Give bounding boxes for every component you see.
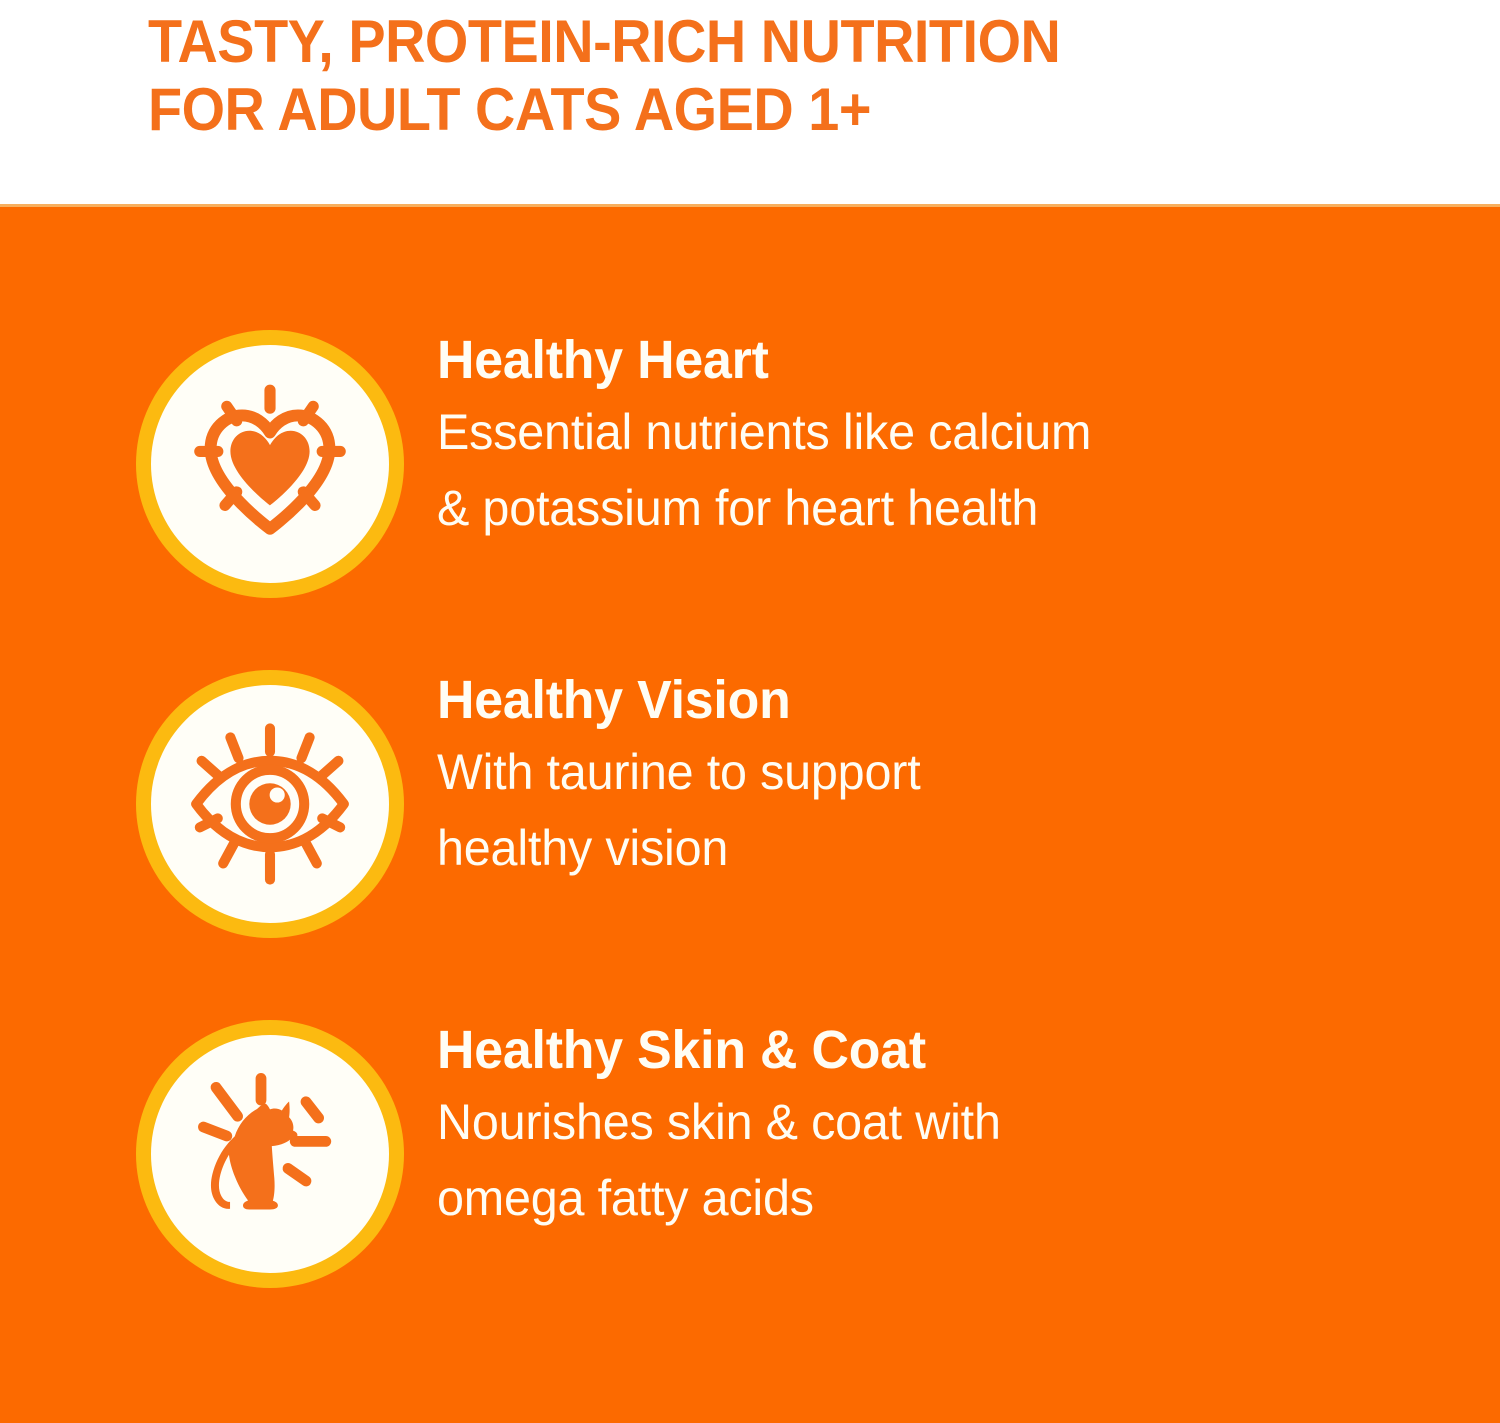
feature-copy: Healthy Skin & Coat Nourishes skin & coa… [437, 1020, 1437, 1236]
cat-rays-icon [180, 1064, 360, 1244]
header-band: TASTY, PROTEIN-RICH NUTRITION FOR ADULT … [0, 0, 1500, 204]
feature-title: Healthy Vision [437, 670, 1397, 730]
page-headline: TASTY, PROTEIN-RICH NUTRITION FOR ADULT … [148, 8, 1320, 144]
product-feature-panel: TASTY, PROTEIN-RICH NUTRITION FOR ADULT … [0, 0, 1500, 1423]
orange-panel: Healthy Heart Essential nutrients like c… [0, 204, 1500, 1423]
feature-description: With taurine to support healthy vision [437, 734, 1407, 886]
heart-rays-icon [180, 374, 360, 554]
feature-badge [136, 670, 404, 938]
feature-title: Healthy Skin & Coat [437, 1020, 1397, 1080]
feature-badge [136, 330, 404, 598]
panel-top-divider [0, 204, 1500, 207]
feature-badge [136, 1020, 404, 1288]
feature-description: Essential nutrients like calcium & potas… [437, 394, 1407, 546]
feature-description: Nourishes skin & coat with omega fatty a… [437, 1084, 1407, 1236]
feature-copy: Healthy Heart Essential nutrients like c… [437, 330, 1437, 546]
feature-title: Healthy Heart [437, 330, 1397, 390]
feature-copy: Healthy Vision With taurine to support h… [437, 670, 1437, 886]
eye-rays-icon [180, 714, 360, 894]
